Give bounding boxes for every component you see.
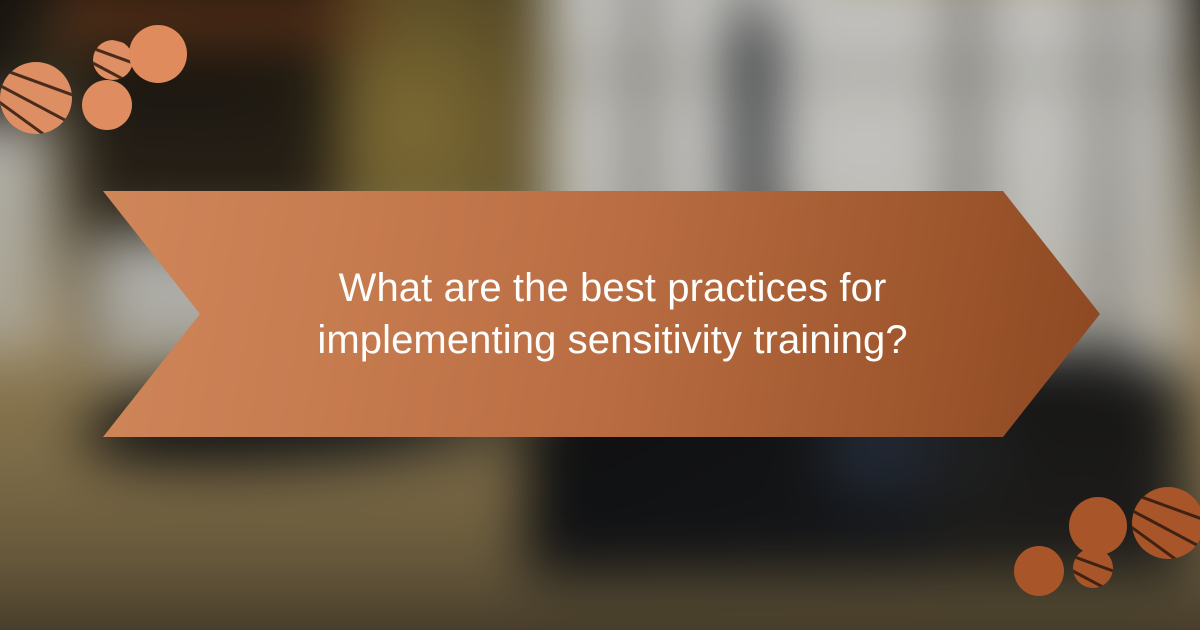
circle-stripes — [0, 62, 72, 134]
circle-plain-large — [129, 25, 187, 83]
circle-striped-large — [0, 62, 72, 134]
circle-striped-large — [1132, 487, 1200, 559]
circle-stripes — [93, 40, 133, 80]
headline-text: What are the best practices for implemen… — [242, 262, 962, 366]
circle-striped-small — [93, 40, 133, 80]
headline-banner: What are the best practices for implemen… — [103, 191, 1100, 437]
circle-stripes — [1132, 487, 1200, 559]
circle-plain-medium — [1014, 546, 1064, 596]
circle-plain-medium — [82, 80, 132, 130]
social-share-card: What are the best practices for implemen… — [0, 0, 1200, 630]
circle-plain-large — [1069, 497, 1127, 555]
